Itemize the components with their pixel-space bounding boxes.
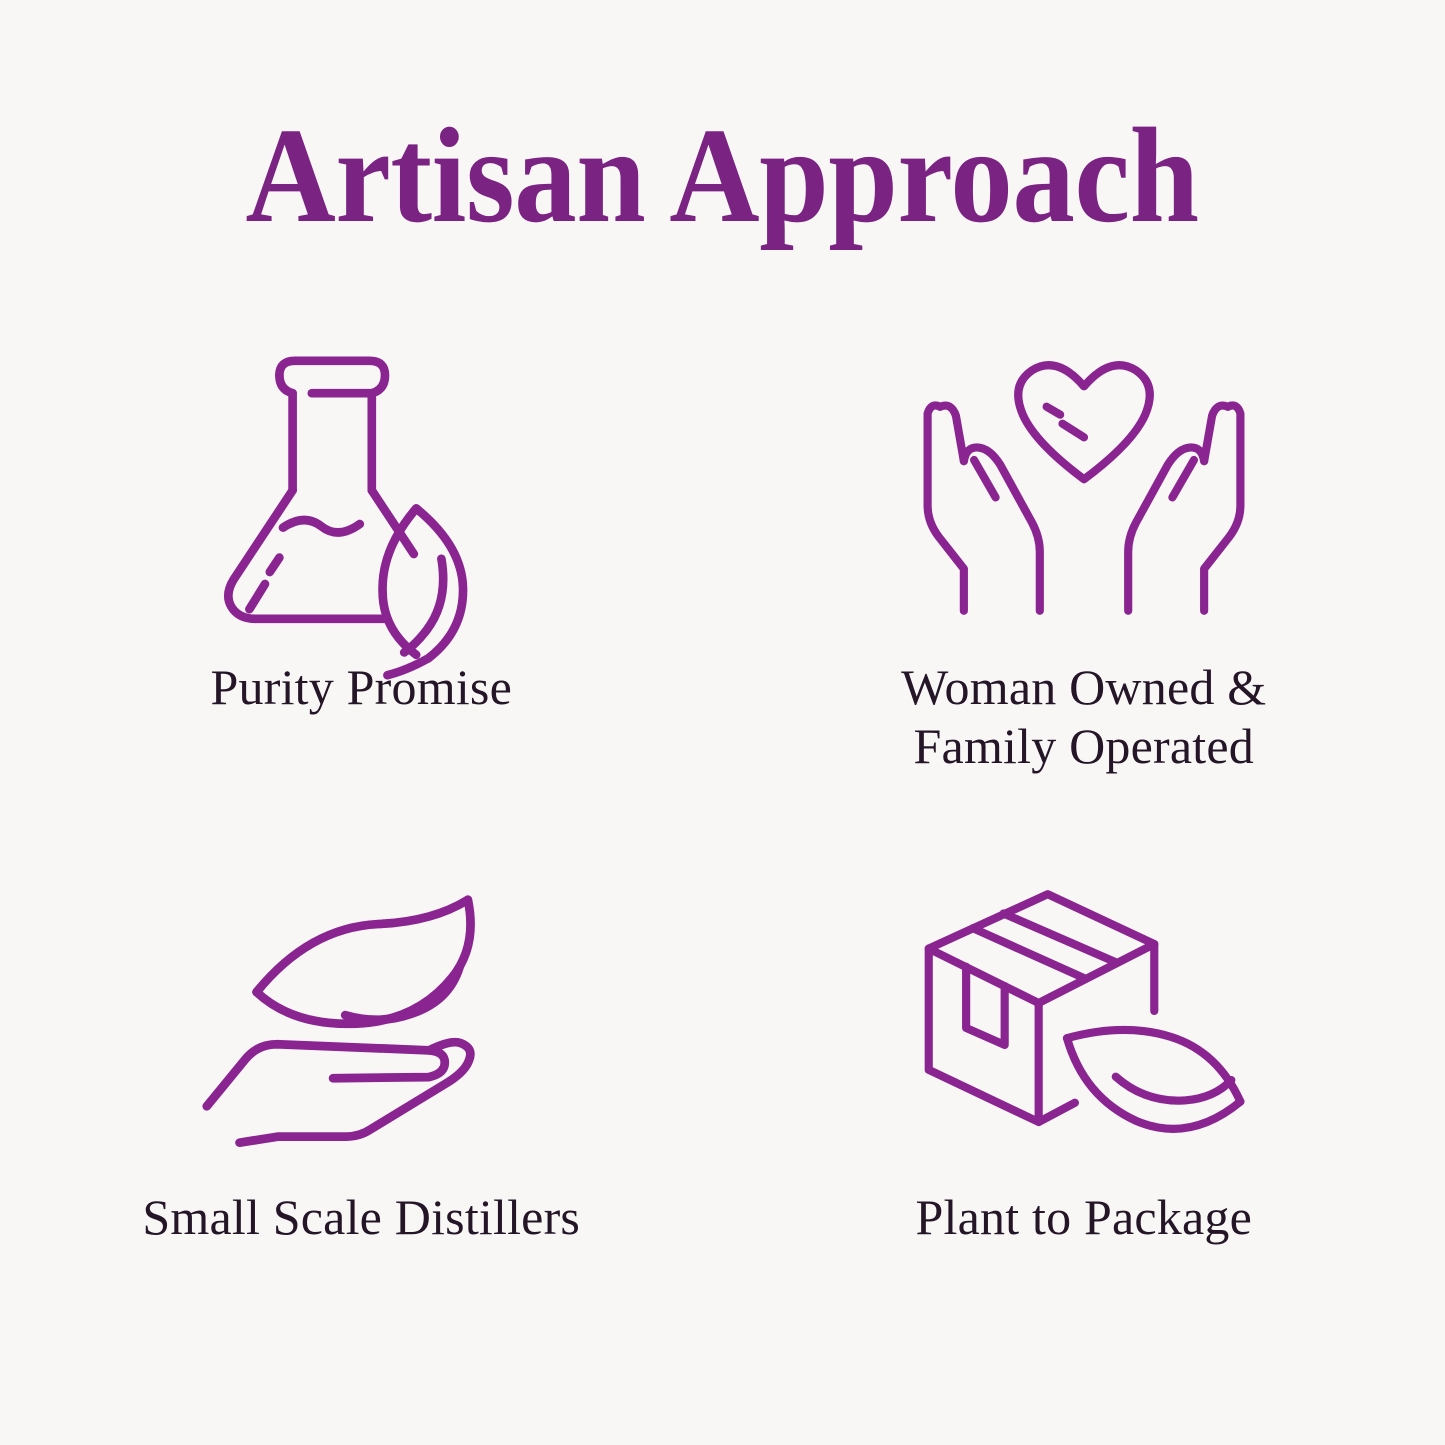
caption-line: Family Operated — [901, 717, 1266, 776]
caption-line: Woman Owned & — [901, 658, 1266, 717]
feature-label-small-scale-distillers: Small Scale Distillers — [142, 1188, 580, 1247]
flask-leaf-icon — [191, 344, 531, 644]
feature-label-purity-promise: Purity Promise — [211, 658, 512, 717]
feature-item-purity-promise: Purity Promise — [0, 330, 723, 830]
flask-leaf-icon-container — [191, 344, 531, 644]
feature-item-plant-to-package: Plant to Package — [723, 830, 1445, 1330]
hands-holding-heart-icon — [914, 344, 1254, 644]
feature-item-small-scale-distillers: Small Scale Distillers — [0, 830, 723, 1330]
caption-line: Purity Promise — [211, 658, 512, 717]
package-box-leaf-icon — [914, 870, 1254, 1170]
artisan-approach-infographic: Artisan Approach — [0, 0, 1445, 1445]
title-container: Artisan Approach — [0, 108, 1445, 244]
page-title: Artisan Approach — [246, 108, 1199, 244]
feature-label-plant-to-package: Plant to Package — [916, 1188, 1252, 1247]
caption-line: Small Scale Distillers — [142, 1188, 580, 1247]
hands-holding-heart-icon-container — [914, 344, 1254, 644]
feature-item-woman-owned: Woman Owned & Family Operated — [723, 330, 1445, 830]
leaf-in-open-hand-icon — [191, 870, 531, 1170]
feature-label-woman-owned: Woman Owned & Family Operated — [901, 658, 1266, 775]
feature-grid: Purity Promise — [0, 330, 1445, 1330]
caption-line: Plant to Package — [916, 1188, 1252, 1247]
package-box-leaf-icon-container — [914, 870, 1254, 1170]
leaf-in-open-hand-icon-container — [191, 870, 531, 1170]
